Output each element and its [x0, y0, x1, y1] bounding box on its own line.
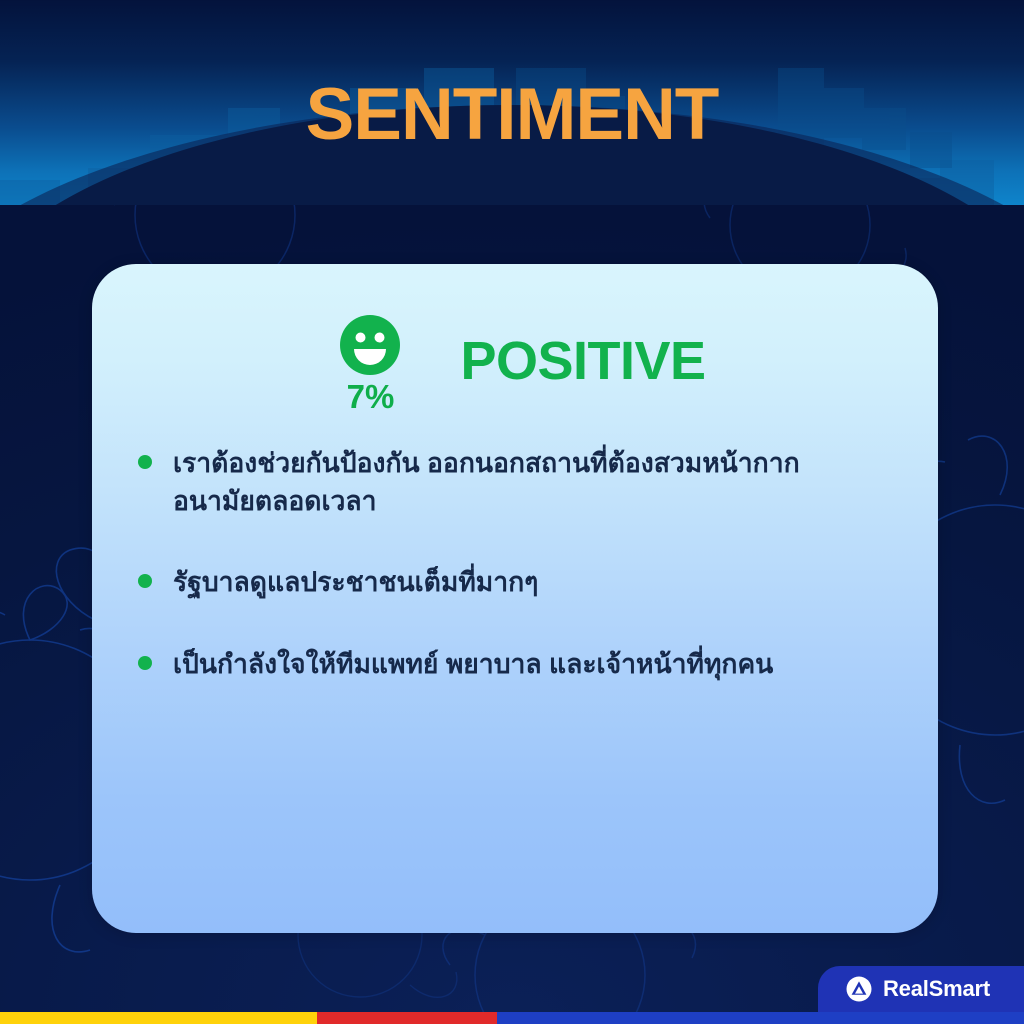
realsmart-triangle-logo-icon — [846, 976, 872, 1002]
list-item-text: เป็นกำลังใจให้ทีมแพทย์ พยาบาล และเจ้าหน้… — [173, 646, 773, 684]
infographic-canvas: SENTIMENT 7% POSITIVE เราต้องช่วยกันป้อง… — [0, 0, 1024, 1024]
sentiment-percent: 7% — [347, 380, 395, 413]
sentiment-score: 7% — [324, 314, 416, 413]
strip-segment-yellow — [0, 1012, 317, 1024]
strip-segment-red — [317, 1012, 496, 1024]
bullet-dot-icon — [138, 656, 152, 670]
list-item: เป็นกำลังใจให้ทีมแพทย์ พยาบาล และเจ้าหน้… — [138, 646, 908, 684]
bullet-dot-icon — [138, 455, 152, 469]
brand-footer: RealSmart — [818, 966, 1024, 1012]
list-item-text: รัฐบาลดูแลประชาชนเต็มที่มากๆ — [173, 564, 538, 602]
list-item: เราต้องช่วยกันป้องกัน ออกนอกสถานที่ต้องส… — [138, 445, 908, 520]
smiley-happy-icon — [339, 314, 401, 376]
bullet-dot-icon — [138, 574, 152, 588]
sentiment-label: POSITIVE — [460, 334, 705, 388]
page-title: SENTIMENT — [0, 78, 1024, 151]
comment-list: เราต้องช่วยกันป้องกัน ออกนอกสถานที่ต้องส… — [138, 445, 908, 728]
sentiment-header: 7% POSITIVE — [92, 314, 938, 413]
sentiment-card: 7% POSITIVE เราต้องช่วยกันป้องกัน ออกนอก… — [92, 264, 938, 933]
list-item: รัฐบาลดูแลประชาชนเต็มที่มากๆ — [138, 564, 908, 602]
strip-segment-blue — [497, 1012, 1024, 1024]
list-item-text: เราต้องช่วยกันป้องกัน ออกนอกสถานที่ต้องส… — [173, 445, 873, 520]
brand-name: RealSmart — [883, 978, 990, 1000]
footer-color-strip — [0, 1012, 1024, 1024]
